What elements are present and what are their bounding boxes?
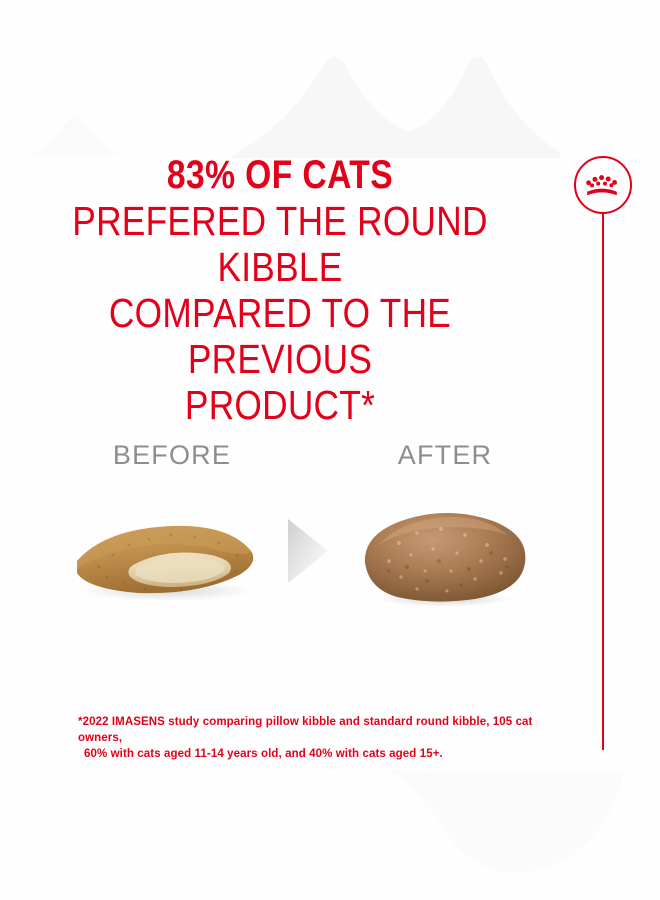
royal-canin-crown-icon: [586, 174, 620, 196]
before-column: BEFORE: [57, 440, 287, 619]
arrow-right-icon: [287, 518, 329, 584]
footnote: *2022 IMASENS study comparing pillow kib…: [78, 714, 578, 762]
before-after-comparison: BEFORE: [0, 440, 560, 620]
royal-canin-logo-badge: [574, 156, 632, 214]
headline-line-1: 83% OF CATS: [45, 152, 515, 198]
after-column: AFTER: [330, 440, 560, 619]
pillow-kibble-image: [71, 517, 263, 601]
headline-line-2: PREFERED THE ROUND KIBBLE: [39, 198, 521, 290]
footnote-line-1: *2022 IMASENS study comparing pillow kib…: [78, 716, 533, 744]
round-kibble-image: [355, 509, 535, 609]
before-image-wrap: [57, 499, 287, 619]
after-image-wrap: [330, 499, 560, 619]
headline-line-3: COMPARED TO THE PREVIOUS: [39, 290, 521, 382]
page-title: 83% OF CATS PREFERED THE ROUND KIBBLE CO…: [0, 152, 560, 428]
cat-silhouette-watermark-top: [230, 28, 560, 158]
infographic-canvas: 83% OF CATS PREFERED THE ROUND KIBBLE CO…: [0, 0, 660, 900]
cat-silhouette-watermark-left: [30, 95, 120, 155]
after-label: AFTER: [330, 440, 560, 471]
headline-line-4: PRODUCT*: [39, 382, 521, 428]
cat-silhouette-watermark-bottom: [355, 770, 655, 900]
logo-stem-line: [602, 213, 604, 750]
footnote-line-2: 60% with cats aged 11-14 years old, and …: [78, 746, 578, 762]
before-label: BEFORE: [57, 440, 287, 471]
